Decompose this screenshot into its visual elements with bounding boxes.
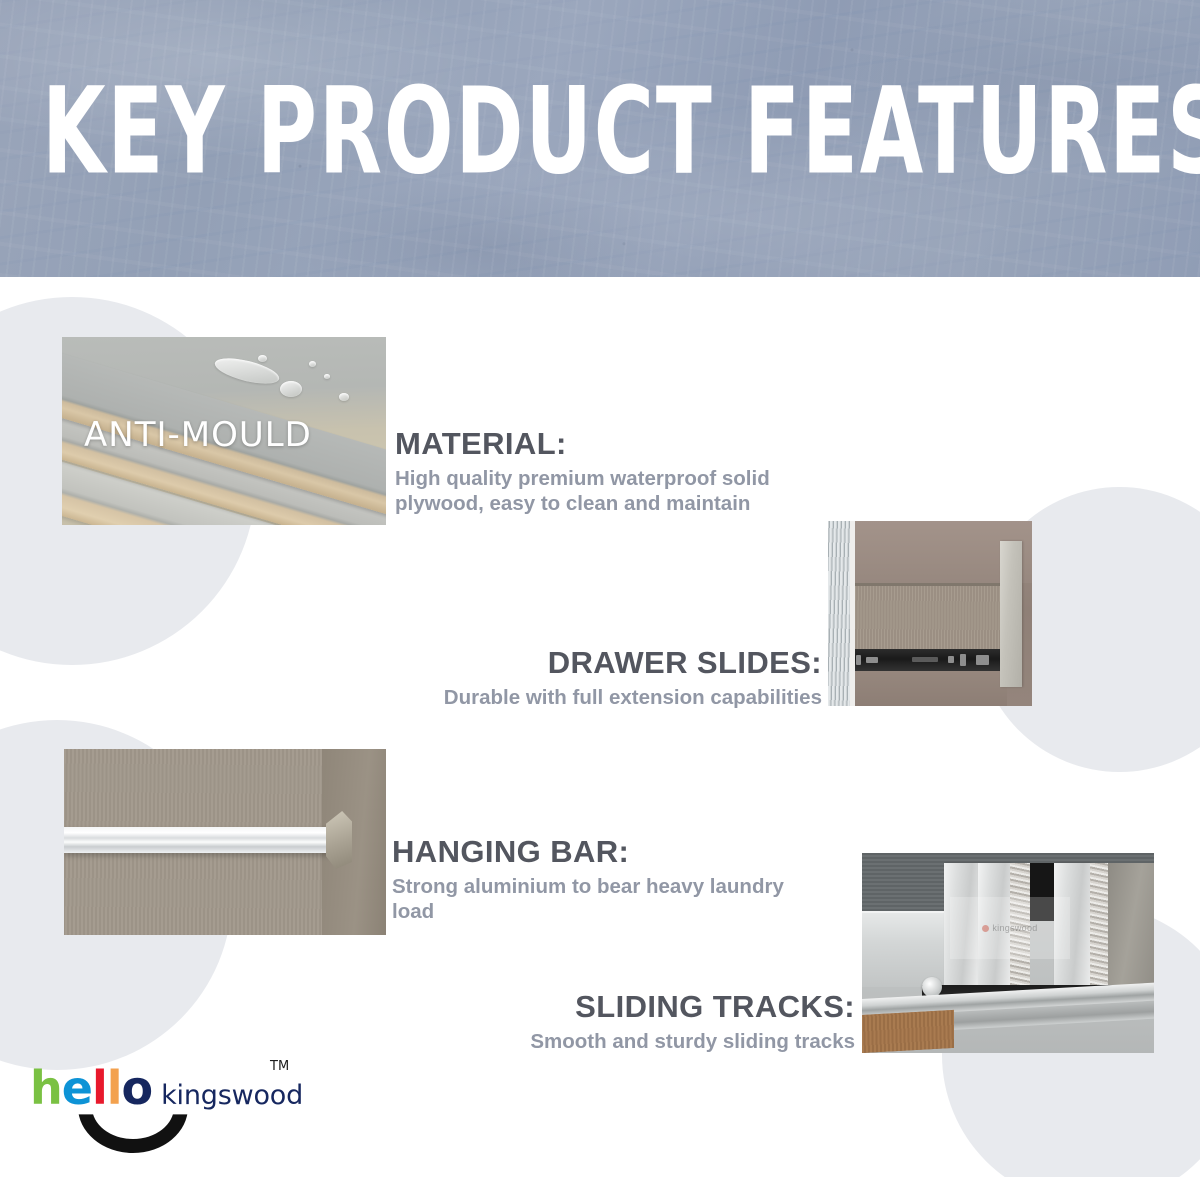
feature-title-hanging-bar: HANGING BAR: [392, 833, 792, 871]
feature-block-drawer-slides: DRAWER SLIDES: Durable with full extensi… [360, 644, 822, 710]
feature-description-drawer-slides: Durable with full extension capabilities [360, 685, 822, 710]
feature-title-drawer-slides: DRAWER SLIDES: [360, 644, 822, 682]
water-droplet [280, 381, 302, 397]
logo-letter-h: h [30, 1065, 62, 1111]
rail-detail [866, 657, 878, 663]
watermark-text: kingswood [992, 923, 1037, 933]
logo-wordmark-row: h e l l o kingswood TM [30, 1063, 303, 1111]
logo-letter-o: o [122, 1065, 153, 1111]
cabinet-interior [1108, 863, 1154, 995]
photo-sliding-tracks: kingswood [862, 853, 1154, 1053]
rail-detail [856, 655, 861, 665]
drawer-face-panel [1000, 541, 1022, 687]
water-droplet [258, 355, 267, 362]
feature-block-hanging-bar: HANGING BAR: Strong aluminium to bear he… [392, 833, 792, 924]
feature-description-material: High quality premium waterproof solid pl… [395, 466, 825, 516]
rail-detail [976, 655, 989, 665]
header-banner: KEY PRODUCT FEATURES [0, 0, 1200, 277]
left-door-panel [862, 911, 944, 987]
logo-brand-name: kingswood [161, 1082, 303, 1109]
drawer-box [855, 583, 1007, 656]
feature-description-sliding-tracks: Smooth and sturdy sliding tracks [465, 1029, 855, 1054]
logo-hello-wordmark: h e l l o [30, 1065, 152, 1111]
photo-plywood-anti-mould: ANTI-MOULD [62, 337, 386, 525]
water-droplet [309, 361, 316, 367]
cabinet-side-grain-panel [828, 521, 850, 706]
feature-title-sliding-tracks: SLIDING TRACKS: [465, 988, 855, 1026]
water-droplet [339, 393, 349, 401]
feature-block-material: MATERIAL: High quality premium waterproo… [395, 425, 825, 516]
rail-detail [948, 656, 954, 663]
infographic-page: KEY PRODUCT FEATURES ANTI-MOULD [0, 0, 1200, 1177]
feature-description-hanging-bar: Strong aluminium to bear heavy laundry l… [392, 874, 792, 924]
cabinet-gap [850, 521, 855, 706]
photo-drawer-slide [828, 521, 1032, 706]
logo-letter-l1: l [92, 1065, 107, 1111]
logo-trademark-symbol: TM [270, 1059, 289, 1074]
feature-block-sliding-tracks: SLIDING TRACKS: Smooth and sturdy slidin… [465, 988, 855, 1054]
page-title: KEY PRODUCT FEATURES [42, 64, 1158, 201]
feature-title-material: MATERIAL: [395, 425, 825, 463]
watermark-dot-icon [982, 925, 989, 932]
photo-watermark: kingswood [950, 897, 1070, 959]
photo-hanging-bar [64, 749, 386, 935]
rail-detail [912, 657, 938, 662]
logo-letter-e: e [62, 1065, 92, 1111]
timber-floor-edge [862, 1010, 954, 1053]
door-core-edge [1090, 863, 1108, 993]
brand-logo: h e l l o kingswood TM [30, 1063, 303, 1111]
logo-letter-l2: l [107, 1065, 122, 1111]
logo-smile-icon [78, 1113, 188, 1159]
drawer-slide-rail [850, 649, 1008, 671]
aluminium-hanging-bar [64, 827, 336, 853]
photo-overlay-label-anti-mould: ANTI-MOULD [84, 415, 312, 455]
rail-detail [960, 654, 966, 666]
water-droplet [324, 374, 330, 379]
